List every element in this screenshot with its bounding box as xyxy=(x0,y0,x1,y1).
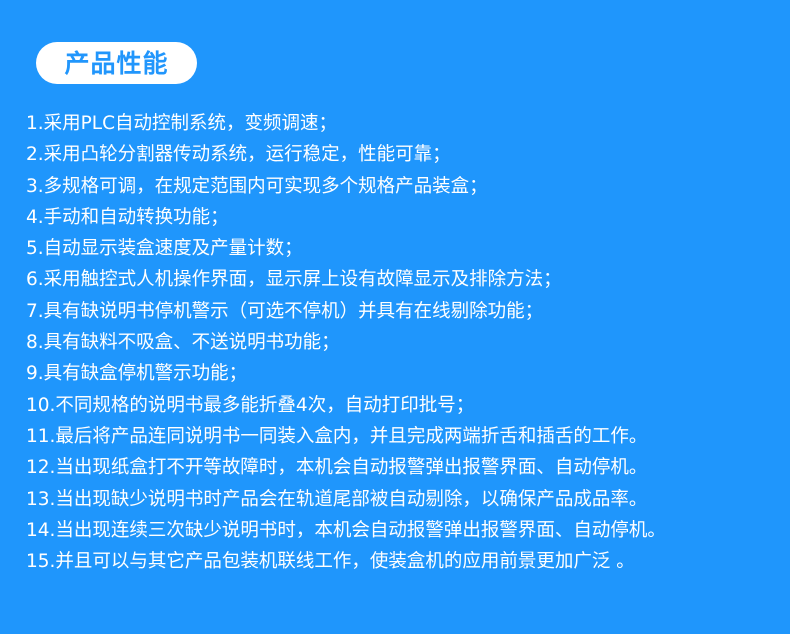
list-item: 8.具有缺料不吸盒、不送说明书功能； xyxy=(26,327,782,358)
list-item: 4.手动和自动转换功能； xyxy=(26,202,782,233)
feature-list: 1.采用PLC自动控制系统，变频调速； 2.采用凸轮分割器传动系统，运行稳定，性… xyxy=(26,108,782,577)
list-item: 15.并且可以与其它产品包装机联线工作，使装盒机的应用前景更加广泛 。 xyxy=(26,546,782,577)
section-title-label: 产品性能 xyxy=(64,51,168,76)
list-item: 2.采用凸轮分割器传动系统，运行稳定，性能可靠； xyxy=(26,139,782,170)
list-item: 5.自动显示装盒速度及产量计数； xyxy=(26,233,782,264)
list-item: 6.采用触控式人机操作界面，显示屏上设有故障显示及排除方法； xyxy=(26,264,782,295)
list-item: 3.多规格可调，在规定范围内可实现多个规格产品装盒； xyxy=(26,171,782,202)
list-item: 12.当出现纸盒打不开等故障时，本机会自动报警弹出报警界面、自动停机。 xyxy=(26,452,782,483)
list-item: 14.当出现连续三次缺少说明书时，本机会自动报警弹出报警界面、自动停机。 xyxy=(26,515,782,546)
section-title-badge: 产品性能 xyxy=(36,42,197,84)
list-item: 11.最后将产品连同说明书一同装入盒内，并且完成两端折舌和插舌的工作。 xyxy=(26,421,782,452)
product-performance-panel: 产品性能 1.采用PLC自动控制系统，变频调速； 2.采用凸轮分割器传动系统，运… xyxy=(0,0,790,634)
list-item: 7.具有缺说明书停机警示（可选不停机）并具有在线剔除功能； xyxy=(26,296,782,327)
list-item: 10.不同规格的说明书最多能折叠4次，自动打印批号； xyxy=(26,390,782,421)
list-item: 1.采用PLC自动控制系统，变频调速； xyxy=(26,108,782,139)
list-item: 13.当出现缺少说明书时产品会在轨道尾部被自动剔除，以确保产品成品率。 xyxy=(26,484,782,515)
list-item: 9.具有缺盒停机警示功能； xyxy=(26,358,782,389)
